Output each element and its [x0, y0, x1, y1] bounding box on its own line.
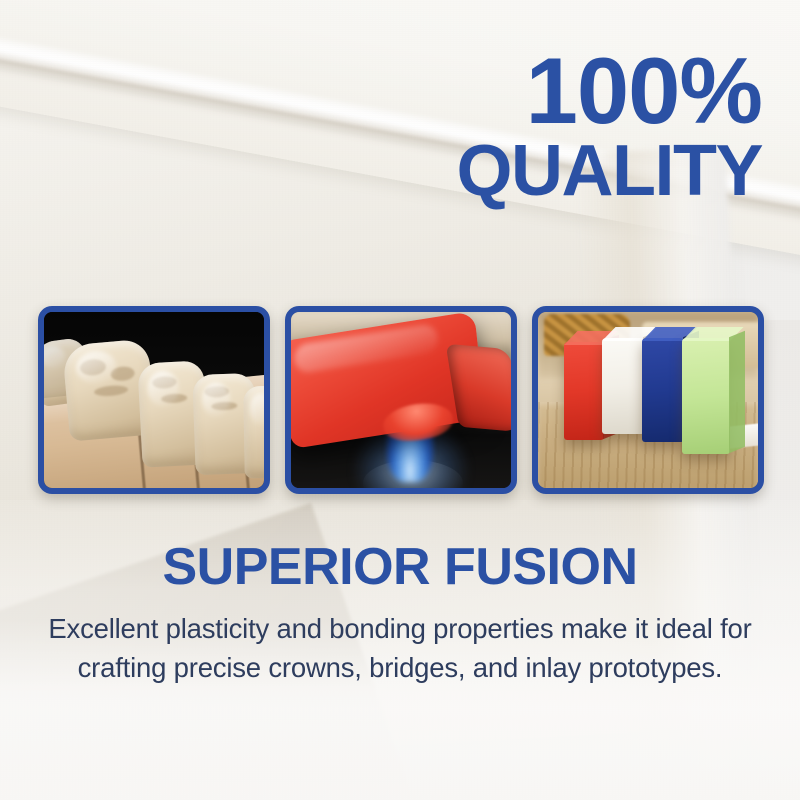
cusp-groove [205, 386, 229, 398]
copy-body: Excellent plasticity and bonding propert… [48, 609, 752, 687]
product-banner: 100% QUALITY [0, 0, 800, 800]
thumbnail-image-bars [538, 312, 758, 488]
wax-bar-red [564, 342, 604, 440]
cusp-groove [79, 358, 106, 376]
wax-bar-white [602, 338, 644, 434]
headline-quality: QUALITY [457, 138, 762, 204]
crown-tooth [243, 386, 264, 479]
copy-block: SUPERIOR FUSION Excellent plasticity and… [0, 540, 800, 687]
cusp-groove [161, 393, 187, 403]
thumbnail-red-wax-melting[interactable] [285, 306, 517, 494]
headline-percent: 100% [457, 48, 762, 134]
wax-bar-side-face [729, 331, 745, 453]
thumbnail-strip [38, 306, 764, 494]
thumbnail-dental-crowns[interactable] [38, 306, 270, 494]
thumbnail-image-crowns [44, 312, 264, 488]
cusp-groove [211, 402, 237, 411]
flame-scene [291, 312, 511, 488]
cusp-groove [94, 384, 129, 397]
crowns-scene [44, 312, 264, 488]
thumbnail-image-flame [291, 312, 511, 488]
cusp-groove [152, 376, 177, 389]
headline: 100% QUALITY [457, 48, 762, 205]
wax-bar-green [682, 338, 730, 454]
copy-title: SUPERIOR FUSION [48, 540, 752, 595]
wax-bars-scene [538, 312, 758, 488]
thumbnail-colored-wax-bars[interactable] [532, 306, 764, 494]
cusp-groove [110, 366, 135, 382]
wax-bar-blue [642, 338, 684, 442]
